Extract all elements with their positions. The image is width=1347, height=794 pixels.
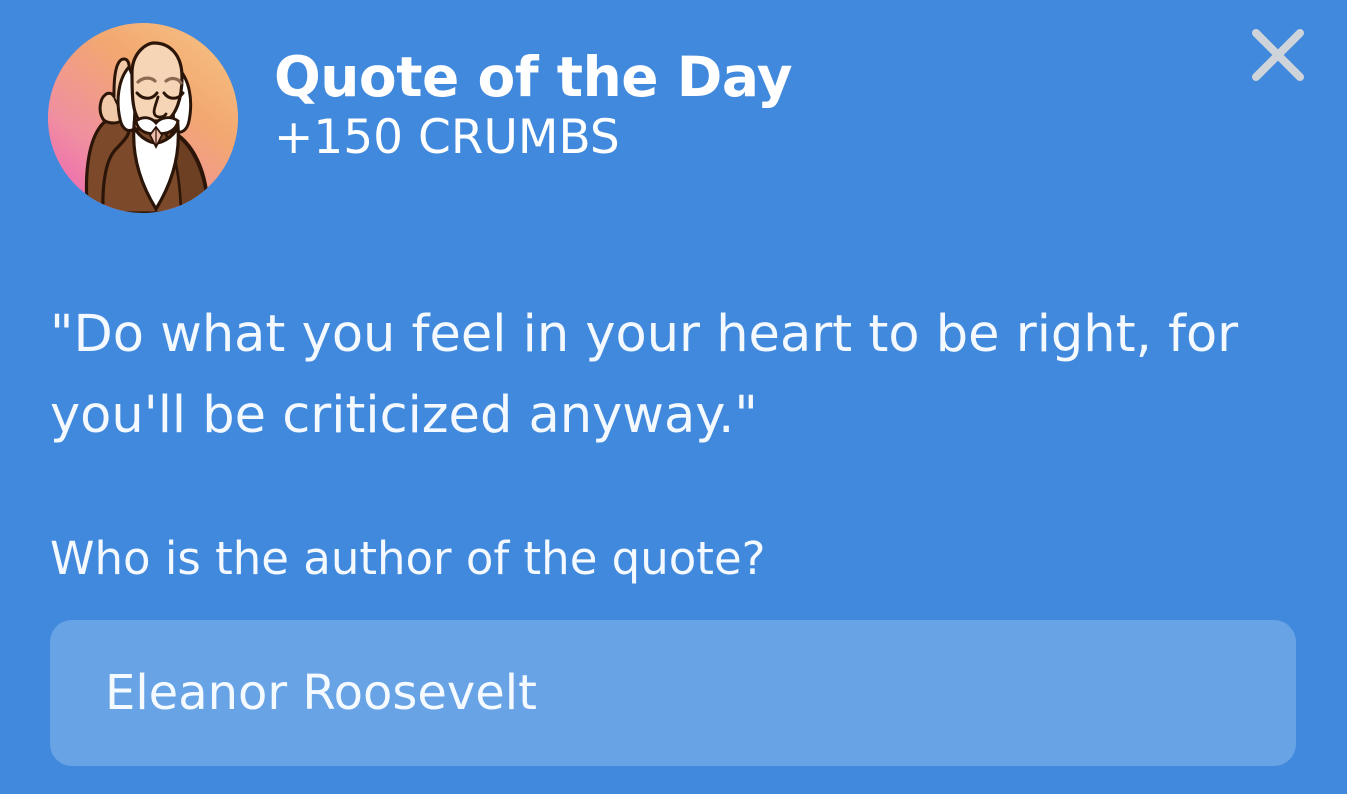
- answer-option-label: Eleanor Roosevelt: [105, 665, 537, 721]
- page-title: Quote of the Day: [274, 45, 792, 109]
- answer-option-0[interactable]: Eleanor Roosevelt: [50, 620, 1296, 766]
- close-icon: [1247, 24, 1309, 86]
- header-text-block: Quote of the Day +150 CRUMBS: [274, 23, 792, 167]
- quote-of-the-day-card: Quote of the Day +150 CRUMBS "Do what yo…: [0, 0, 1347, 794]
- reward-label: +150 CRUMBS: [274, 109, 792, 167]
- quote-text: "Do what you feel in your heart to be ri…: [50, 294, 1240, 456]
- wise-old-man-avatar-icon: [48, 23, 238, 213]
- close-button[interactable]: [1241, 18, 1315, 92]
- card-header: Quote of the Day +150 CRUMBS: [48, 23, 792, 213]
- question-text: Who is the author of the quote?: [50, 528, 766, 590]
